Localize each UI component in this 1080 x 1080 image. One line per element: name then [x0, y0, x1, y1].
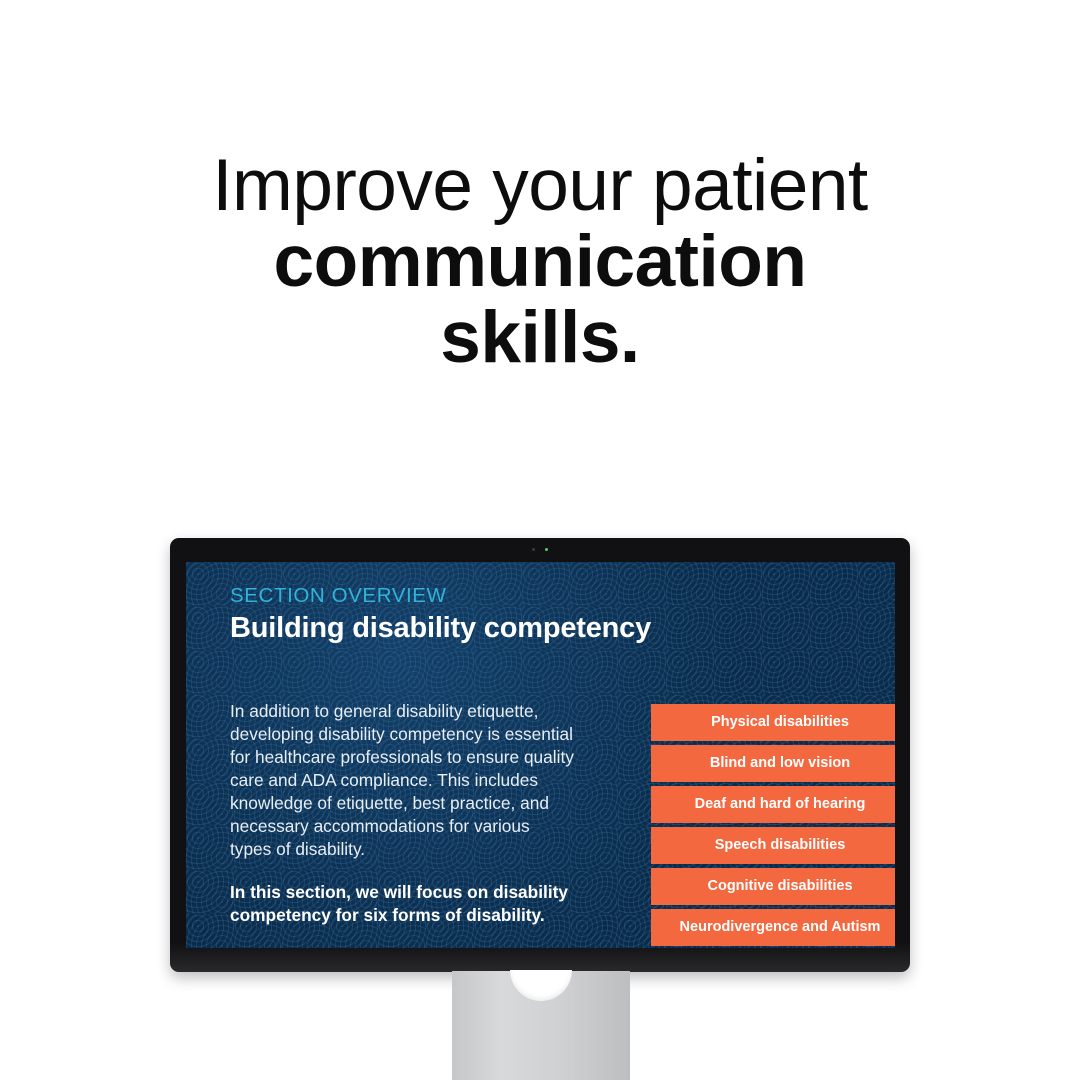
- list-item: Neurodivergence and Autism: [651, 909, 895, 946]
- list-item: Deaf and hard of hearing: [651, 786, 895, 823]
- monitor-screen: SECTION OVERVIEW Building disability com…: [186, 562, 895, 948]
- headline-line-3: skills.: [0, 300, 1080, 376]
- slide-title: Building disability competency: [230, 612, 873, 645]
- list-item: Blind and low vision: [651, 745, 895, 782]
- power-led-icon: [545, 548, 548, 551]
- list-item: Physical disabilities: [651, 704, 895, 741]
- headline-line-2: communication: [0, 224, 1080, 300]
- slide-eyebrow: SECTION OVERVIEW: [230, 584, 873, 608]
- monitor-stand: [452, 971, 630, 1080]
- topic-list: Physical disabilities Blind and low visi…: [651, 704, 895, 946]
- list-item: Speech disabilities: [651, 827, 895, 864]
- slide-paragraph-bold: In this section, we will focus on disabi…: [230, 881, 574, 927]
- headline-line-1: Improve your patient: [0, 148, 1080, 224]
- webcam-icon: [532, 548, 535, 551]
- page-headline: Improve your patient communication skill…: [0, 148, 1080, 376]
- webcam-indicator-group: [532, 548, 548, 551]
- stand-notch: [510, 970, 572, 1001]
- slide-paragraph: In addition to general disability etique…: [230, 700, 574, 861]
- list-item: Cognitive disabilities: [651, 868, 895, 905]
- desktop-monitor: SECTION OVERVIEW Building disability com…: [170, 538, 910, 972]
- slide-body: In addition to general disability etique…: [230, 700, 574, 927]
